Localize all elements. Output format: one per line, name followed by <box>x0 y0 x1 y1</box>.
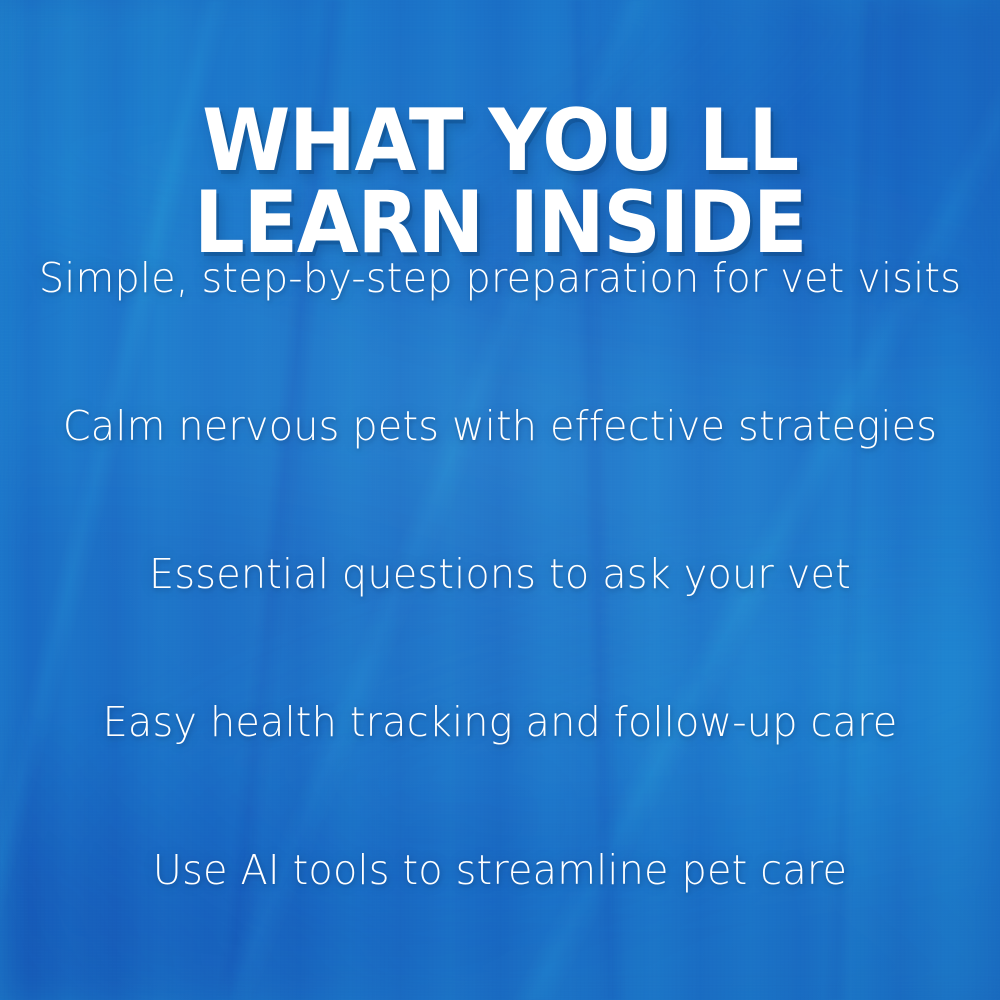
bullet-item-5: Use AI tools to streamline pet care <box>15 850 985 998</box>
bullet-item-2: Calm nervous pets with effective strateg… <box>15 406 985 554</box>
headline-line-2: LEARN INSIDE <box>35 182 965 265</box>
bullet-item-3: Essential questions to ask your vet <box>15 554 985 702</box>
bullet-item-1: Simple, step-by-step preparation for vet… <box>15 258 985 406</box>
bullet-item-4: Easy health tracking and follow-up care <box>15 702 985 850</box>
headline: WHAT YOU LL LEARN INSIDE <box>35 100 965 265</box>
bullet-list: Simple, step-by-step preparation for vet… <box>0 258 1000 998</box>
headline-line-1: WHAT YOU LL <box>35 100 965 183</box>
poster-content: WHAT YOU LL LEARN INSIDE Simple, step-by… <box>0 0 1000 1000</box>
poster-canvas: WHAT YOU LL LEARN INSIDE Simple, step-by… <box>0 0 1000 1000</box>
